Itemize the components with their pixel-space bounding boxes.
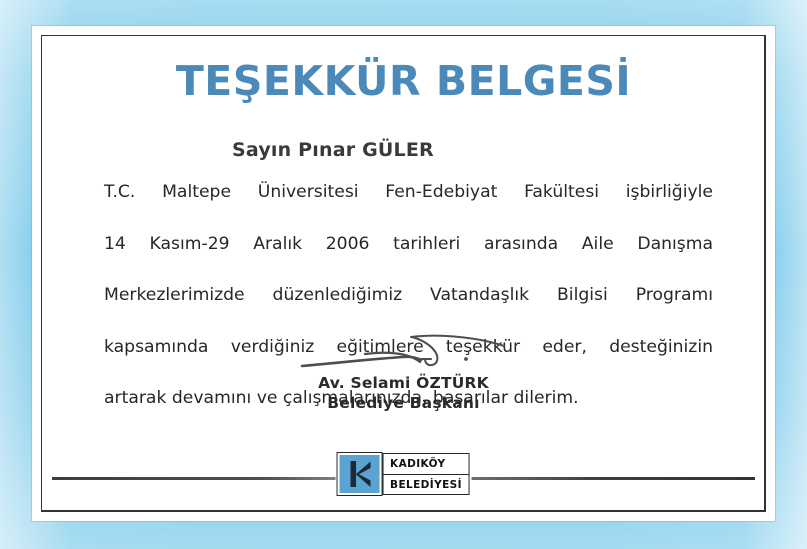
signatory-role: Belediye Başkanı — [32, 394, 775, 414]
logo-line-belediyesi: BELEDİYESİ — [382, 474, 470, 495]
logo-k-mark-icon — [337, 453, 381, 495]
kadikoy-belediyesi-logo: KADIKÖY BELEDİYESİ — [335, 453, 472, 497]
certificate-title: TEŞEKKÜR BELGESİ — [78, 26, 729, 105]
body-line: T.C. Maltepe Üniversitesi Fen-Edebiyat F… — [104, 180, 713, 232]
certificate-paper-panel: TEŞEKKÜR BELGESİ Sayın Pınar GÜLER T.C. … — [32, 26, 775, 521]
handwritten-signature-icon — [299, 326, 509, 378]
certificate-content: TEŞEKKÜR BELGESİ Sayın Pınar GÜLER T.C. … — [32, 26, 775, 521]
body-line: 14 Kasım-29 Aralık 2006 tarihleri arasın… — [104, 232, 713, 284]
certificate-footer: KADIKÖY BELEDİYESİ — [52, 453, 755, 499]
logo-text-block: KADIKÖY BELEDİYESİ — [382, 453, 470, 497]
recipient-name: Sayın Pınar GÜLER — [78, 105, 729, 161]
signature-block: Av. Selami ÖZTÜRK Belediye Başkanı — [32, 326, 775, 414]
certificate-document: TEŞEKKÜR BELGESİ Sayın Pınar GÜLER T.C. … — [0, 0, 807, 549]
logo-line-kadikoy: KADIKÖY — [382, 453, 470, 474]
signatory-name: Av. Selami ÖZTÜRK — [32, 374, 775, 394]
